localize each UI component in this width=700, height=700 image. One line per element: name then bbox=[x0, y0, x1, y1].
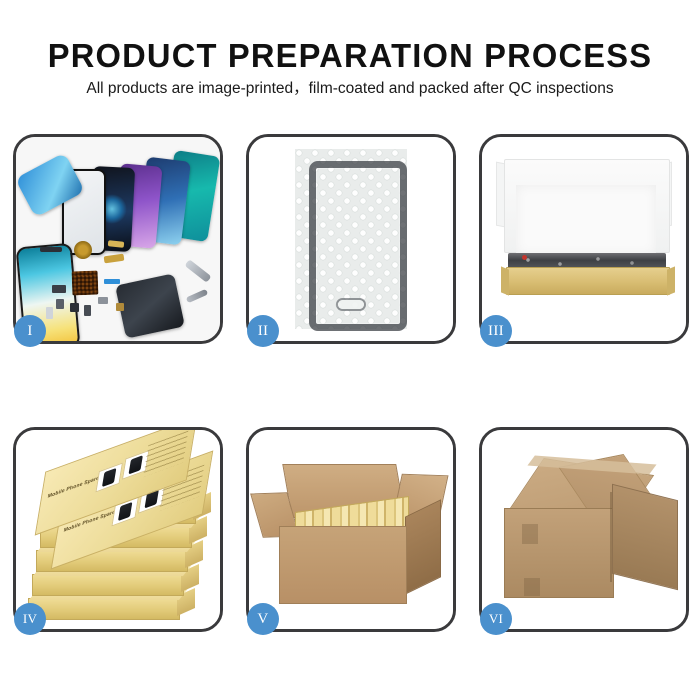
kraft-box-base bbox=[506, 267, 670, 295]
carton-edge-seam bbox=[610, 492, 612, 582]
step-badge-1: I bbox=[14, 315, 46, 347]
small-part bbox=[98, 297, 108, 304]
step-badge-3: III bbox=[480, 315, 512, 347]
step-badge-6: VI bbox=[480, 603, 512, 635]
carton-handle-tab-top bbox=[522, 524, 538, 544]
box-window-left bbox=[95, 462, 123, 492]
process-grid: I II III bbox=[13, 134, 689, 632]
carton-side-panel bbox=[405, 499, 441, 595]
chip-array bbox=[72, 271, 99, 296]
panel-image-2 bbox=[249, 137, 453, 341]
bubble-wrapped-screen bbox=[295, 149, 407, 329]
small-part bbox=[104, 279, 120, 284]
carton-front-panel bbox=[279, 526, 407, 604]
panel-image-5 bbox=[249, 430, 453, 629]
repair-tool-a bbox=[185, 259, 212, 283]
panel-open-carton[interactable]: V bbox=[246, 427, 456, 632]
step-badge-4: IV bbox=[14, 603, 46, 635]
box-spec-lines bbox=[143, 431, 188, 477]
stacked-box bbox=[32, 574, 184, 596]
carton-handle-tab-bottom bbox=[524, 578, 540, 596]
infographic-page: PRODUCT PREPARATION PROCESS All products… bbox=[0, 0, 700, 700]
carton-right-face bbox=[612, 484, 678, 590]
panel-image-6 bbox=[482, 430, 686, 629]
panel-sealed-carton[interactable]: VI bbox=[479, 427, 689, 632]
coil-component bbox=[74, 241, 92, 259]
flex-cable-a bbox=[104, 254, 125, 264]
small-part bbox=[56, 299, 64, 309]
repair-tool-b bbox=[186, 289, 209, 303]
small-part bbox=[52, 285, 66, 293]
foam-padding bbox=[516, 185, 656, 255]
header: PRODUCT PREPARATION PROCESS All products… bbox=[0, 36, 700, 100]
small-part bbox=[46, 307, 53, 319]
panel-image-1 bbox=[16, 137, 220, 341]
page-title: PRODUCT PREPARATION PROCESS bbox=[4, 36, 697, 76]
step-badge-2: II bbox=[247, 315, 279, 347]
panel-image-3 bbox=[482, 137, 686, 341]
page-subtitle: All products are image-printed，film-coat… bbox=[0, 78, 700, 100]
panel-image-4: Mobile Phone Spare Parts Mobile Phone Sp… bbox=[16, 430, 220, 629]
stacked-box bbox=[28, 598, 180, 620]
panel-open-kraft-box[interactable]: III bbox=[479, 134, 689, 344]
carton-front-face bbox=[504, 508, 614, 598]
step-badge-5: V bbox=[247, 603, 279, 635]
speaker-bar bbox=[40, 247, 62, 252]
panel-bubble-wrapped-screen[interactable]: II bbox=[246, 134, 456, 344]
panel-phone-screens-and-parts[interactable]: I bbox=[13, 134, 223, 344]
panel-stacked-boxes[interactable]: Mobile Phone Spare Parts Mobile Phone Sp… bbox=[13, 427, 223, 632]
box-stack: Mobile Phone Spare Parts Mobile Phone Sp… bbox=[22, 440, 220, 626]
small-part bbox=[116, 303, 124, 311]
small-part bbox=[70, 303, 79, 312]
small-part bbox=[84, 305, 91, 316]
screen-marker bbox=[522, 255, 527, 260]
phone-back-housing bbox=[115, 273, 185, 338]
